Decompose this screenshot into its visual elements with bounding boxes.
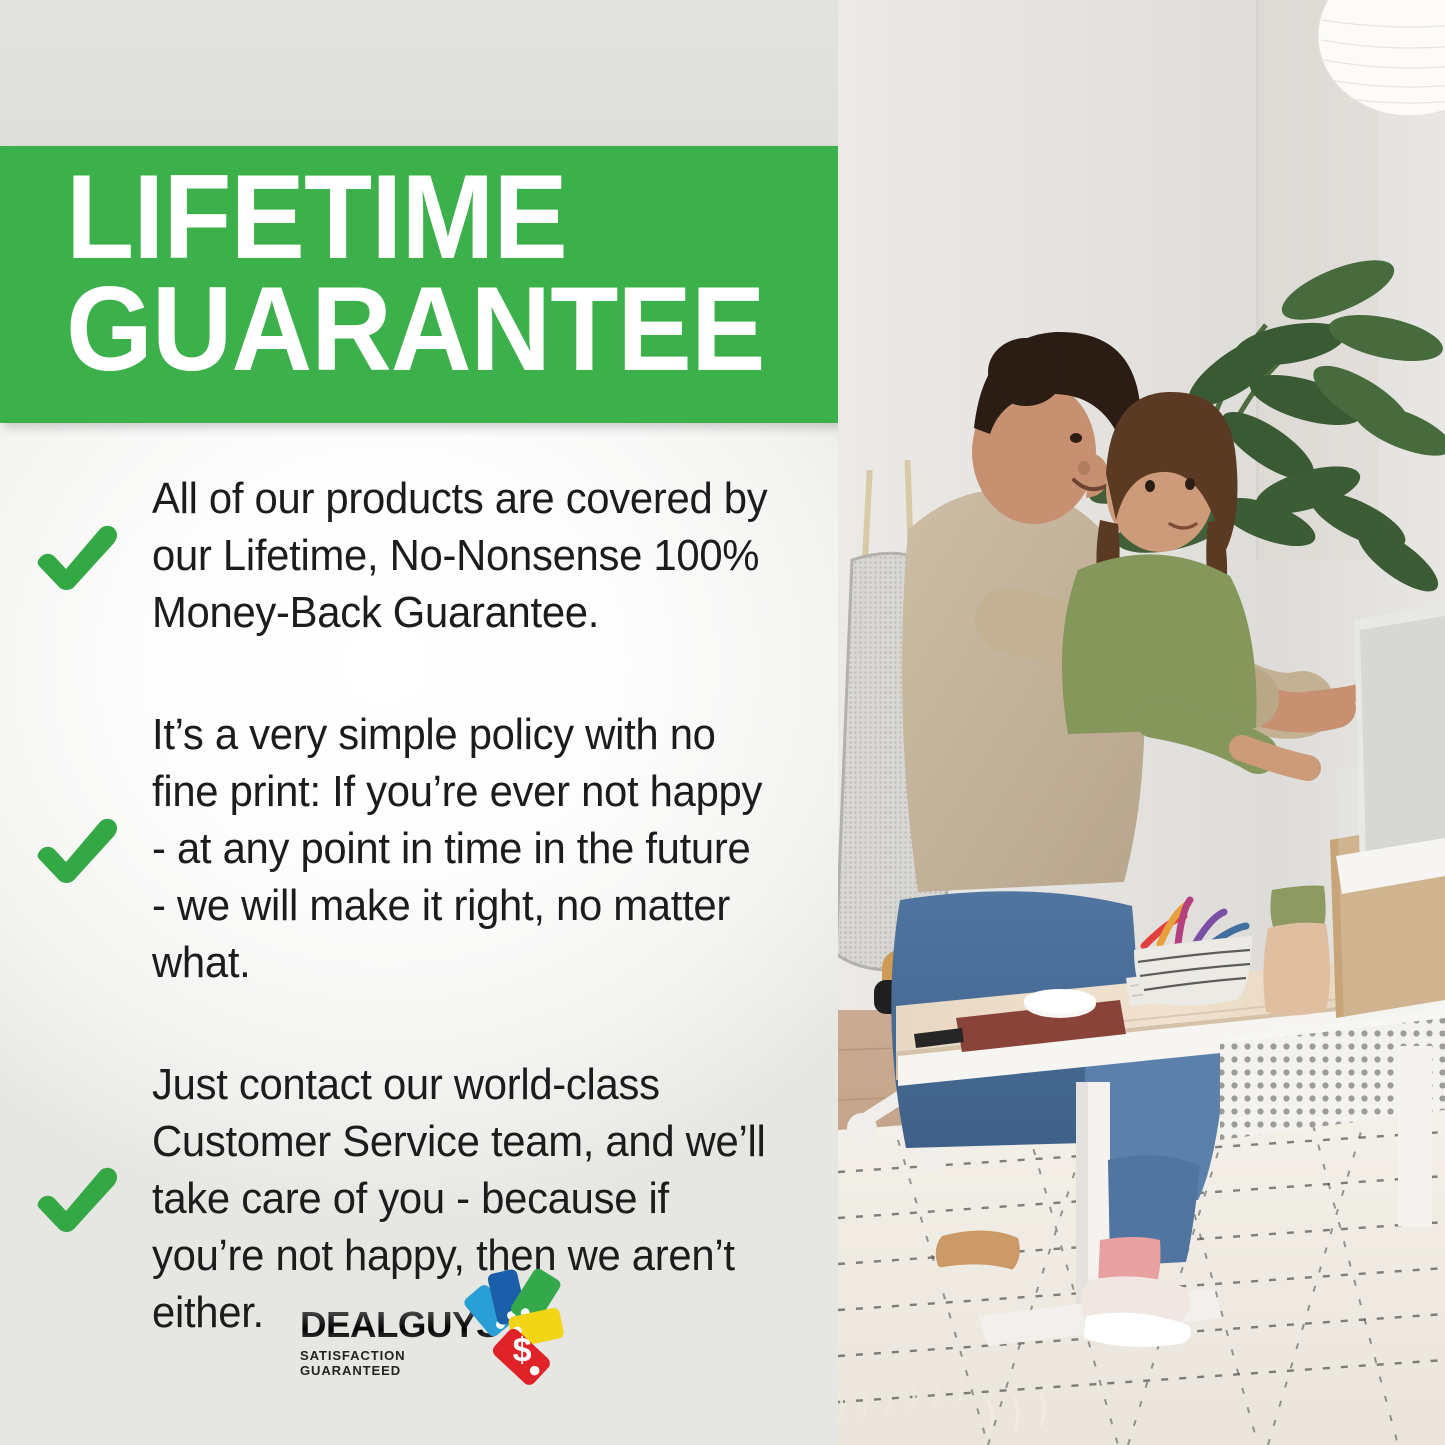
list-item: All of our products are covered by our L… [0, 470, 838, 642]
green-checkmark-icon [32, 519, 120, 593]
guarantee-marketing-image: LIFETIME GUARANTEE All of our products a… [0, 0, 1445, 1445]
dealguys-logo: DEALGUYS SATISFACTION GUARANTEED [300, 1283, 570, 1391]
banner-title: LIFETIME GUARANTEE [66, 162, 819, 385]
bullet-text: All of our products are covered by our L… [152, 470, 804, 642]
guarantee-bullet-list: All of our products are covered by our L… [0, 470, 838, 1405]
lifetime-guarantee-banner: LIFETIME GUARANTEE [0, 146, 838, 423]
svg-text:$: $ [513, 1332, 532, 1370]
check-column [0, 519, 152, 593]
list-item: It’s a very simple policy with no fine p… [0, 706, 838, 992]
banner-background: LIFETIME GUARANTEE [0, 146, 838, 423]
left-content-panel: LIFETIME GUARANTEE All of our products a… [0, 0, 838, 1445]
photo-illustration [838, 0, 1445, 1445]
bullet-text: It’s a very simple policy with no fine p… [152, 706, 804, 992]
price-tag-fan-logo-icon: $ [460, 1265, 572, 1387]
top-gray-strip [0, 0, 838, 146]
check-column [0, 812, 152, 886]
green-checkmark-icon [32, 1161, 120, 1235]
check-column [0, 1161, 152, 1235]
green-checkmark-icon [32, 812, 120, 886]
lifestyle-photo [838, 0, 1445, 1445]
